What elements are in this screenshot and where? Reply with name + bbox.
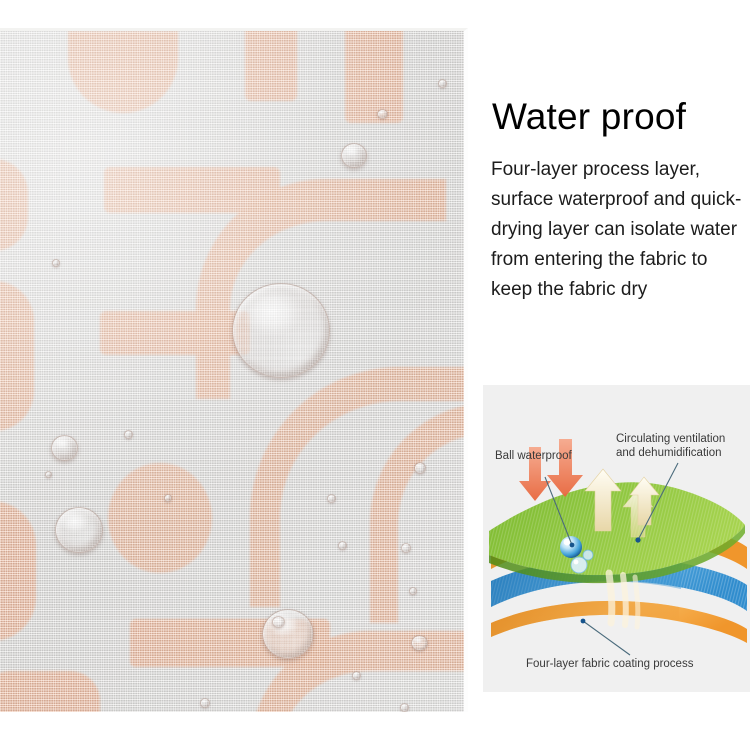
water-droplet-small-left xyxy=(51,435,78,461)
print-shape-edge-bottom-left xyxy=(0,671,100,712)
water-droplet-tiny-4 xyxy=(124,430,133,439)
product-feature-page: Water proof Four-layer process layer, su… xyxy=(0,0,750,750)
feature-description: Four-layer process layer, surface waterp… xyxy=(491,155,750,305)
water-droplet-tiny-16 xyxy=(45,471,52,478)
water-droplet-small-upper-right xyxy=(341,143,367,168)
water-droplet-tiny-5 xyxy=(164,494,172,502)
water-droplet-medium-left xyxy=(55,507,103,553)
page-title: Water proof xyxy=(492,98,686,135)
layer-4-bottom-coating xyxy=(491,601,747,643)
print-shape-circle xyxy=(108,463,212,573)
label-circulating-ventilation: Circulating ventilation and dehumidifica… xyxy=(616,432,725,460)
print-shape-bar-top-mid xyxy=(245,28,297,101)
layer-1-breathable-top xyxy=(489,482,745,583)
water-droplet-tiny-7 xyxy=(327,494,336,503)
vapor-streaks xyxy=(609,573,638,627)
waterproof-fabric-photo xyxy=(0,28,468,712)
four-layer-diagram-panel: Ball waterproof Circulating ventilation … xyxy=(483,385,750,692)
water-droplet-tiny-11 xyxy=(352,671,361,680)
water-droplet-tiny-12 xyxy=(411,635,428,651)
water-droplet-medium-bottom xyxy=(262,609,314,659)
water-droplet-tiny-14 xyxy=(200,698,210,708)
water-droplet-large xyxy=(232,283,330,378)
water-droplet-tiny-9 xyxy=(401,543,411,553)
water-droplet-tiny-6 xyxy=(414,462,426,474)
water-droplet-tiny-3 xyxy=(52,259,60,267)
print-shape-bar-top-right xyxy=(345,28,403,123)
water-droplet-tiny-2 xyxy=(377,109,388,119)
water-droplet-tiny-15 xyxy=(400,703,409,712)
print-shape-edge-left-mid xyxy=(0,281,34,431)
water-droplet-tiny-13 xyxy=(409,587,417,595)
water-droplet-tiny-1 xyxy=(438,79,447,88)
label-four-layer-coating: Four-layer fabric coating process xyxy=(526,657,693,671)
water-droplet-tiny-8 xyxy=(338,541,347,550)
water-droplet-tiny-10 xyxy=(272,616,285,628)
label-ball-waterproof: Ball waterproof xyxy=(495,449,572,463)
print-shape-bar-left-lower xyxy=(100,311,250,355)
